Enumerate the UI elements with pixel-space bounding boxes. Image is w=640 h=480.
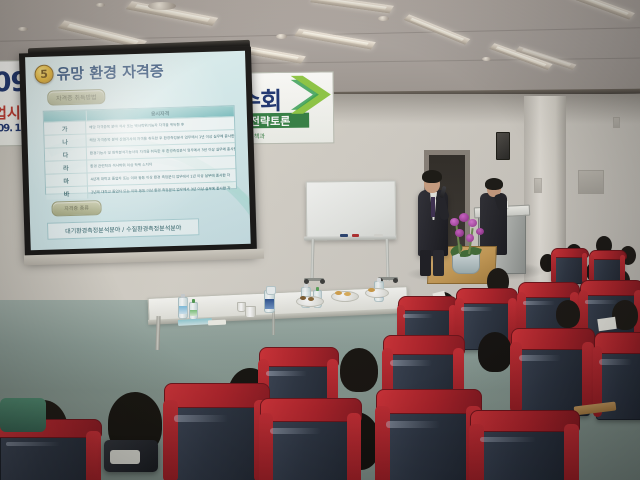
table-row-label: 나 bbox=[44, 135, 86, 148]
presenter-hair bbox=[422, 170, 442, 183]
slide-bottom-pill: 자격증 종류 bbox=[51, 200, 101, 216]
ceiling-fitting bbox=[482, 57, 491, 61]
snack bbox=[368, 288, 375, 292]
snack bbox=[344, 292, 351, 296]
seat[interactable] bbox=[168, 390, 264, 480]
slide-title: 유망 환경 자격증 bbox=[56, 60, 164, 84]
seat[interactable] bbox=[474, 416, 574, 480]
seat[interactable] bbox=[264, 404, 356, 480]
table-row-label: 바 bbox=[46, 187, 88, 200]
banner-left-line2: 업시 bbox=[0, 102, 21, 123]
paper-cup[interactable] bbox=[266, 286, 276, 295]
water-bottle[interactable] bbox=[189, 302, 198, 320]
audience-paper bbox=[597, 317, 616, 331]
orchid-bloom bbox=[455, 229, 464, 237]
orchid-bloom bbox=[476, 228, 484, 235]
snack bbox=[335, 291, 342, 295]
presenter-leg bbox=[433, 250, 444, 276]
ceiling-speaker-grille bbox=[148, 2, 176, 10]
table-row-label: 마 bbox=[46, 174, 88, 187]
handout-paper[interactable] bbox=[208, 320, 226, 326]
audience-head bbox=[556, 300, 580, 328]
seat-green-panel[interactable] bbox=[0, 398, 46, 432]
audience-head bbox=[478, 332, 512, 372]
orchid-bloom bbox=[468, 219, 477, 227]
slide-table: 응시자격 가 해당 자격종목 분야 석사 또는 박사학위기능자 자격을 취득한 … bbox=[43, 105, 237, 195]
projection-screen[interactable]: 5 유망 환경 자격증 자격증 취득방법 응시자격 가 해당 자격종목 분야 석… bbox=[19, 47, 257, 262]
seat[interactable] bbox=[552, 250, 586, 284]
paper-cup[interactable] bbox=[245, 306, 256, 318]
snack bbox=[300, 296, 306, 300]
whiteboard-caster bbox=[393, 278, 398, 283]
seat[interactable] bbox=[0, 424, 96, 480]
snack bbox=[308, 297, 314, 301]
wall-fitting bbox=[534, 178, 542, 193]
audience-head bbox=[340, 348, 378, 392]
presenter-necktie bbox=[431, 197, 435, 217]
ceiling-fitting bbox=[378, 16, 389, 21]
marker-blue[interactable] bbox=[340, 234, 348, 237]
ceiling-fitting bbox=[276, 34, 287, 39]
slide-subtitle-pill: 자격증 취득방법 bbox=[47, 89, 105, 106]
paper-cup[interactable] bbox=[237, 302, 246, 312]
table-row-label: 다 bbox=[45, 148, 87, 161]
seat[interactable] bbox=[514, 334, 590, 416]
audience-papers bbox=[110, 450, 140, 464]
eraser[interactable] bbox=[374, 234, 383, 237]
wall-fitting bbox=[613, 117, 620, 128]
marker-red[interactable] bbox=[352, 234, 359, 237]
orchid-bloom bbox=[450, 218, 459, 226]
wall-panel bbox=[578, 170, 604, 194]
whiteboard[interactable] bbox=[306, 181, 397, 241]
seat[interactable] bbox=[380, 396, 476, 480]
presentation-slide: 5 유망 환경 자격증 자격증 취득방법 응시자격 가 해당 자격종목 분야 석… bbox=[25, 51, 251, 250]
table-leg bbox=[272, 311, 275, 335]
orchid-bloom bbox=[466, 234, 474, 242]
presenter-leg bbox=[420, 250, 431, 276]
second-speaker-hair bbox=[485, 178, 503, 190]
table-row-label: 가 bbox=[44, 122, 86, 135]
lecture-hall-photo: 09 업시 009. 11. 수회 전략토론 환경정책과 5 유망 환경 자격증… bbox=[0, 0, 640, 480]
ceiling-fitting bbox=[96, 3, 105, 7]
whiteboard-caster bbox=[320, 279, 325, 284]
green-chevron-logo bbox=[287, 73, 335, 120]
ceiling-fitting bbox=[18, 27, 28, 31]
water-bottle[interactable] bbox=[178, 297, 188, 319]
wall-speaker bbox=[496, 132, 510, 160]
slide-number-badge: 5 bbox=[34, 64, 54, 84]
table-row-label: 라 bbox=[45, 161, 87, 174]
